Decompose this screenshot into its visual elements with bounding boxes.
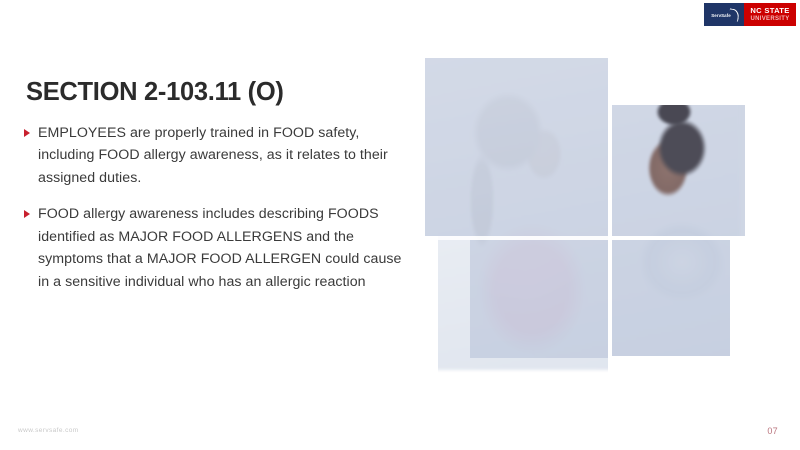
photo-panel-top-left: [425, 58, 608, 236]
photo-panel-bottom-right: [612, 240, 730, 356]
list-item: EMPLOYEES are properly trained in FOOD s…: [24, 122, 416, 189]
triangle-bullet-icon: [24, 129, 30, 137]
bullet-text: FOOD allergy awareness includes describi…: [38, 203, 416, 293]
servsafe-logo: ServSafe: [704, 3, 744, 26]
nc-state-line2: UNIVERSITY: [750, 16, 789, 22]
bullet-text: EMPLOYEES are properly trained in FOOD s…: [38, 122, 416, 189]
footer-url: www.servsafe.com: [18, 427, 79, 434]
slide-canvas: ServSafe NC STATE UNIVERSITY SECTION 2-1…: [0, 0, 800, 450]
bleed-mask: [438, 50, 608, 58]
nc-state-logo: NC STATE UNIVERSITY: [744, 3, 796, 26]
nc-state-line1: NC STATE: [750, 7, 789, 15]
bullet-list: EMPLOYEES are properly trained in FOOD s…: [24, 122, 416, 307]
collage-seam-vertical: [608, 50, 612, 380]
photo-panel-inner: [612, 105, 740, 236]
photo-panel-inner: [470, 240, 608, 358]
photo-artwork: [425, 58, 608, 236]
page-number: 07: [767, 426, 778, 436]
page-title: SECTION 2-103.11 (O): [26, 78, 284, 107]
photo-artwork: [612, 105, 740, 236]
photo-artwork: [612, 240, 730, 356]
photo-panel-bottom-left: [470, 240, 608, 358]
photo-panel-top-right: [612, 105, 745, 236]
photo-artwork: [470, 240, 608, 358]
logo-bar: ServSafe NC STATE UNIVERSITY: [704, 3, 796, 26]
swoosh-icon: [728, 8, 740, 21]
photo-panel-inner: [425, 58, 608, 236]
collage-seam-horizontal: [420, 236, 760, 240]
photo-collage: [420, 50, 760, 380]
triangle-bullet-icon: [24, 210, 30, 218]
list-item: FOOD allergy awareness includes describi…: [24, 203, 416, 293]
photo-panel-inner: [612, 240, 730, 356]
